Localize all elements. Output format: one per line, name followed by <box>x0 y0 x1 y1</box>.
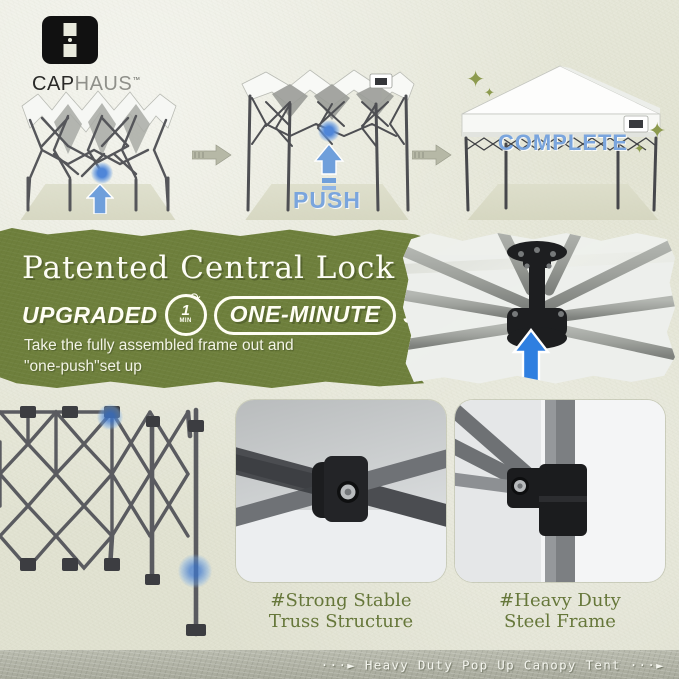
caphaus-monogram-icon <box>42 16 98 64</box>
footer-bar: ···► Heavy Duty Pop Up Canopy Tent ···► <box>0 650 679 679</box>
setup-steps-row: PUSH <box>0 58 679 220</box>
one-minute-label: ONE-MINUTE <box>230 301 381 327</box>
sparkle-star-icon: ✦ <box>648 120 666 142</box>
step-folded <box>8 58 188 220</box>
sparkle-star-icon: ✦ <box>484 86 495 99</box>
step-push: PUSH <box>232 58 422 220</box>
central-lock-hotspot-icon <box>318 120 340 142</box>
feature-frame-caption: #Heavy Duty Steel Frame <box>453 590 667 632</box>
step-separator-2 <box>412 144 452 166</box>
sparkle-star-icon: ✦ <box>466 68 485 91</box>
blue-up-arrow-icon <box>86 184 114 214</box>
blue-up-arrow-icon <box>511 328 551 385</box>
leg-bracket-photo <box>455 400 665 582</box>
stopwatch-icon: ↷ 1 MIN <box>165 294 207 336</box>
banner-body: Take the fully assembled frame out and "… <box>24 335 294 377</box>
truss-x-joint-photo <box>236 400 446 582</box>
one-minute-pill: ONE-MINUTE <box>214 296 397 335</box>
infographic-root: CAPHAUS™ <box>0 0 679 679</box>
blue-up-arrow-icon <box>312 144 346 190</box>
complete-label: COMPLETE <box>498 130 628 156</box>
badge-unit: MIN <box>180 318 192 324</box>
stopwatch-arrow-icon: ↷ <box>190 290 201 306</box>
feature-banner: Patented Central Lock UPGRADED ↷ 1 MIN O… <box>0 222 679 394</box>
step-separator-1 <box>192 144 232 166</box>
step-complete: COMPLETE ✦ ✦ ✦ ✦ <box>452 58 674 220</box>
feature-truss-caption: #Strong Stable Truss Structure <box>234 590 448 632</box>
monogram-dot-icon <box>68 38 72 42</box>
blue-hotspot-icon <box>178 554 212 588</box>
caption-line2: Truss Structure <box>234 611 448 632</box>
footer-text: ···► Heavy Duty Pop Up Canopy Tent ···► <box>321 657 665 672</box>
right-arrow-icon <box>192 144 232 166</box>
caption-line2: Steel Frame <box>453 611 667 632</box>
banner-title: Patented Central Lock <box>22 250 395 286</box>
blue-hotspot-icon <box>97 404 123 430</box>
push-label: PUSH <box>293 187 361 214</box>
banner-body-line1: Take the fully assembled frame out and <box>24 335 294 356</box>
central-lock-hotspot-icon <box>91 162 113 184</box>
folding-scissor-frame-diagram <box>0 396 226 646</box>
sparkle-star-icon: ✦ <box>634 142 645 155</box>
central-lock-underside-photo <box>403 230 675 385</box>
caption-line1: #Strong Stable <box>270 590 411 611</box>
right-arrow-icon <box>412 144 452 166</box>
caption-line1: #Heavy Duty <box>499 590 621 611</box>
upgraded-label: UPGRADED <box>22 302 158 329</box>
badge-value: 1 <box>181 306 189 316</box>
features-row: #Strong Stable Truss Structure <box>0 396 679 651</box>
banner-body-line2: "one-push"set up <box>24 356 294 377</box>
